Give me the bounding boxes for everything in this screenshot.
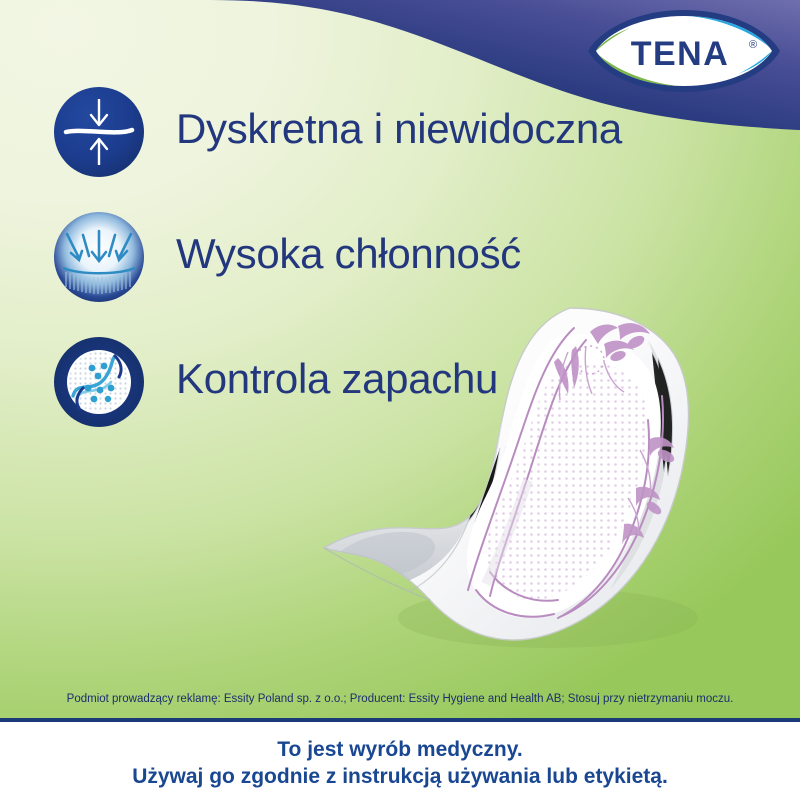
thin-compression-icon bbox=[53, 86, 145, 178]
absorbency-arrows-icon bbox=[53, 211, 145, 303]
medical-device-banner: To jest wyrób medyczny. Używaj go zgodni… bbox=[0, 722, 800, 800]
odour-control-swirl-icon bbox=[53, 336, 145, 428]
tena-wordmark: TENA bbox=[631, 35, 730, 73]
advertisement-root: TENA ® bbox=[0, 0, 800, 800]
banner-line-2: Używaj go zgodnie z instrukcją używania … bbox=[0, 763, 800, 790]
registered-trademark-mark: ® bbox=[749, 39, 757, 51]
feature-label: Wysoka chłonność bbox=[176, 223, 521, 285]
product-image bbox=[318, 300, 748, 660]
banner-line-1: To jest wyrób medyczny. bbox=[0, 736, 800, 763]
feature-label: Dyskretna i niewidoczna bbox=[176, 98, 622, 160]
legal-disclaimer: Podmiot prowadzący reklamę: Essity Polan… bbox=[0, 692, 800, 706]
background-canvas: TENA ® bbox=[0, 0, 800, 721]
feature-row: Dyskretna i niewidoczna bbox=[0, 78, 800, 203]
